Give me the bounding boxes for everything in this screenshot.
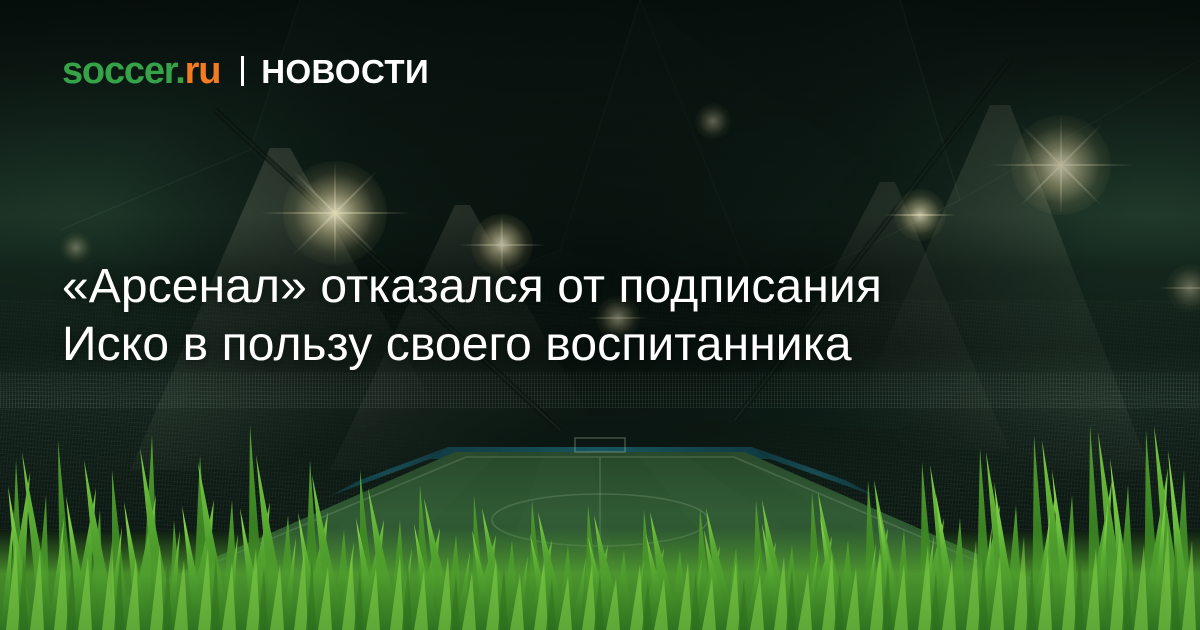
site-header: soccer.ru НОВОСТИ <box>62 48 429 94</box>
header-divider <box>241 56 244 86</box>
soccer-ru-logo[interactable]: soccer.ru <box>62 52 220 90</box>
headline-line-2: Иско в пользу своего воспитанника <box>62 316 1132 374</box>
article-headline: «Арсенал» отказался от подписания Иско в… <box>62 258 1132 374</box>
foreground-grass <box>0 400 1200 630</box>
share-card: soccer.ru НОВОСТИ «Арсенал» отказался от… <box>0 0 1200 630</box>
header-scrim <box>0 0 1200 250</box>
logo-dot: . <box>175 50 184 92</box>
headline-line-1: «Арсенал» отказался от подписания <box>62 258 1132 316</box>
logo-name-tld: ru <box>185 50 221 92</box>
section-label-news: НОВОСТИ <box>261 55 429 88</box>
logo-name-primary: soccer <box>62 50 175 92</box>
